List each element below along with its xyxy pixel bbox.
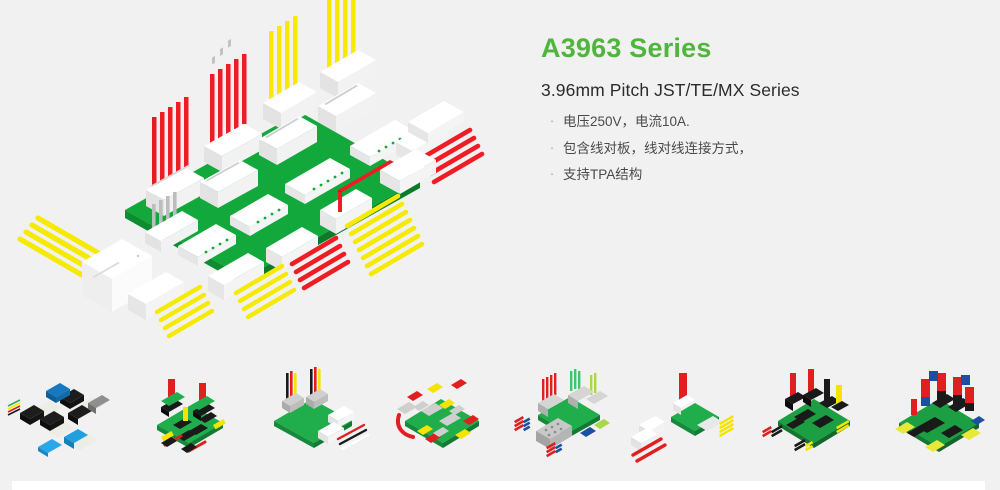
feature-text: 支持TPA结构 xyxy=(563,164,971,186)
thumb-dense-board-red-blue[interactable] xyxy=(875,348,1000,480)
list-item: · 电压250V，电流10A. xyxy=(541,111,971,133)
product-thumbnail-strip xyxy=(0,348,1000,480)
thumb-green-board-gray-wires[interactable] xyxy=(250,348,375,480)
slide-canvas: A3963 Series 3.96mm Pitch JST/TE/MX Seri… xyxy=(0,0,1000,490)
hero-illustration xyxy=(0,0,530,344)
thumb-board-multi-pin-headers[interactable] xyxy=(500,348,625,480)
product-subtitle: 3.96mm Pitch JST/TE/MX Series xyxy=(541,80,971,102)
feature-text: 电压250V，电流10A. xyxy=(563,111,971,133)
page-title: A3963 Series xyxy=(541,33,971,64)
connector-red-pins-2 xyxy=(204,54,262,172)
thumb-green-board-red-yellow[interactable] xyxy=(375,348,500,480)
product-text-panel: A3963 Series 3.96mm Pitch JST/TE/MX Seri… xyxy=(541,33,971,191)
thumb-black-blue-housings[interactable] xyxy=(0,348,125,480)
bullet-icon: · xyxy=(541,164,563,185)
list-item: · 包含线对板，线对线连接方式， xyxy=(541,138,971,160)
feature-text: 包含线对板，线对线连接方式， xyxy=(563,138,971,160)
connector-yellow-pins-1 xyxy=(263,16,317,129)
bullet-icon: · xyxy=(541,111,563,132)
bullet-icon: · xyxy=(541,138,563,159)
list-item: · 支持TPA结构 xyxy=(541,164,971,186)
thumb-dark-board-red-posts[interactable] xyxy=(750,348,875,480)
thumb-red-white-harness[interactable] xyxy=(625,348,750,480)
feature-list: · 电压250V，电流10A. · 包含线对板，线对线连接方式， · 支持TPA… xyxy=(541,111,971,186)
connector-yellow-pins-2 xyxy=(320,0,376,98)
thumb-green-board-black-red[interactable] xyxy=(125,348,250,480)
bottom-white-strip xyxy=(12,481,985,490)
connector-right-stack-2 xyxy=(380,149,436,194)
